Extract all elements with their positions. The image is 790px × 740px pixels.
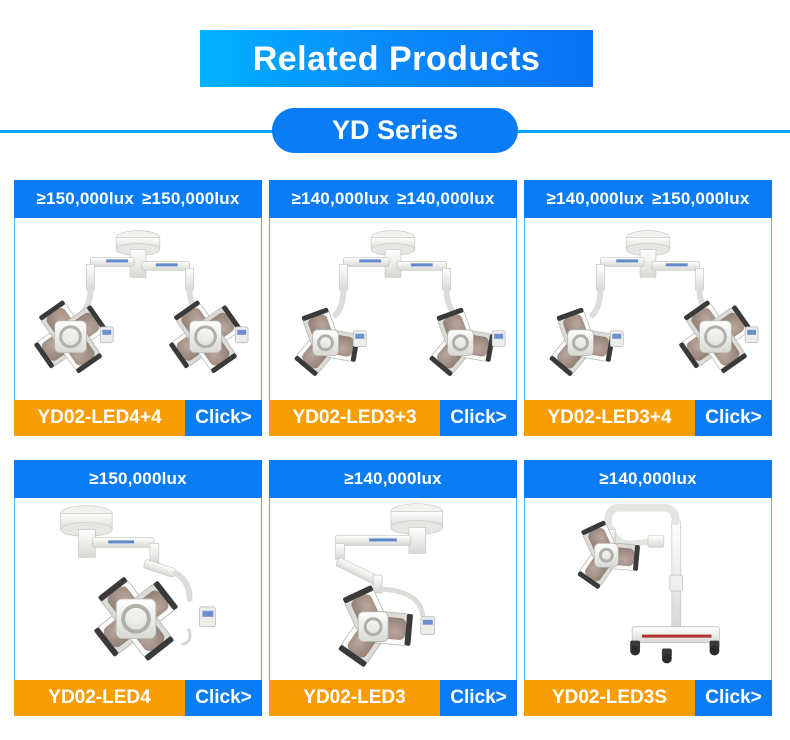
card-footer: YD02-LED3+4 Click> (524, 400, 772, 436)
click-button[interactable]: Click> (185, 400, 262, 436)
card-header-lux: ≥140,000lux (269, 460, 517, 498)
product-card-yd02-led3-3[interactable]: ≥140,000lux ≥140,000lux (269, 180, 517, 436)
page-header: Related Products (0, 0, 790, 100)
lux-value-left: ≥140,000lux (599, 469, 697, 489)
click-button[interactable]: Click> (185, 680, 262, 716)
card-header-lux: ≥140,000lux ≥140,000lux (269, 180, 517, 218)
product-name: YD02-LED4 (14, 680, 185, 716)
product-image-single-head-3 (269, 498, 517, 680)
product-card-yd02-led4[interactable]: ≥150,000lux (14, 460, 262, 716)
product-name: YD02-LED4+4 (14, 400, 185, 436)
product-name: YD02-LED3S (524, 680, 695, 716)
product-image-mobile-stand-3 (524, 498, 772, 680)
lux-value-left: ≥150,000lux (89, 469, 187, 489)
product-card-yd02-led3-4[interactable]: ≥140,000lux ≥150,000lux (524, 180, 772, 436)
page-title-banner: Related Products (200, 30, 593, 87)
lux-value-left: ≥140,000lux (546, 189, 644, 209)
lux-value-left: ≥140,000lux (291, 189, 389, 209)
card-header-lux: ≥140,000lux (524, 460, 772, 498)
product-name: YD02-LED3+3 (269, 400, 440, 436)
card-header-lux: ≥150,000lux ≥150,000lux (14, 180, 262, 218)
lux-value-right: ≥150,000lux (142, 189, 240, 209)
lux-value-right: ≥140,000lux (397, 189, 495, 209)
series-divider: YD Series (0, 108, 790, 156)
product-image-dual-head-4plus4 (14, 218, 262, 400)
card-footer: YD02-LED4+4 Click> (14, 400, 262, 436)
product-card-yd02-led3s[interactable]: ≥140,000lux (524, 460, 772, 716)
card-header-lux: ≥140,000lux ≥150,000lux (524, 180, 772, 218)
click-button[interactable]: Click> (695, 400, 772, 436)
product-image-single-head-4 (14, 498, 262, 680)
lux-value-left: ≥140,000lux (344, 469, 442, 489)
product-image-dual-head-3plus3 (269, 218, 517, 400)
card-footer: YD02-LED3 Click> (269, 680, 517, 716)
card-footer: YD02-LED3S Click> (524, 680, 772, 716)
product-grid: ≥150,000lux ≥150,000lux (0, 174, 790, 734)
lux-value-right: ≥150,000lux (652, 189, 750, 209)
card-footer: YD02-LED3+3 Click> (269, 400, 517, 436)
lux-value-left: ≥150,000lux (36, 189, 134, 209)
page-title: Related Products (253, 42, 541, 76)
card-header-lux: ≥150,000lux (14, 460, 262, 498)
click-button[interactable]: Click> (695, 680, 772, 716)
product-card-yd02-led3[interactable]: ≥140,000lux (269, 460, 517, 716)
related-products-page: Related Products YD Series ≥150,000lux ≥… (0, 0, 790, 740)
product-name: YD02-LED3+4 (524, 400, 695, 436)
product-image-dual-head-3plus4 (524, 218, 772, 400)
click-button[interactable]: Click> (440, 400, 517, 436)
click-button[interactable]: Click> (440, 680, 517, 716)
product-name: YD02-LED3 (269, 680, 440, 716)
product-card-yd02-led4-4[interactable]: ≥150,000lux ≥150,000lux (14, 180, 262, 436)
series-label: YD Series (332, 117, 458, 144)
card-footer: YD02-LED4 Click> (14, 680, 262, 716)
series-badge: YD Series (272, 108, 518, 153)
